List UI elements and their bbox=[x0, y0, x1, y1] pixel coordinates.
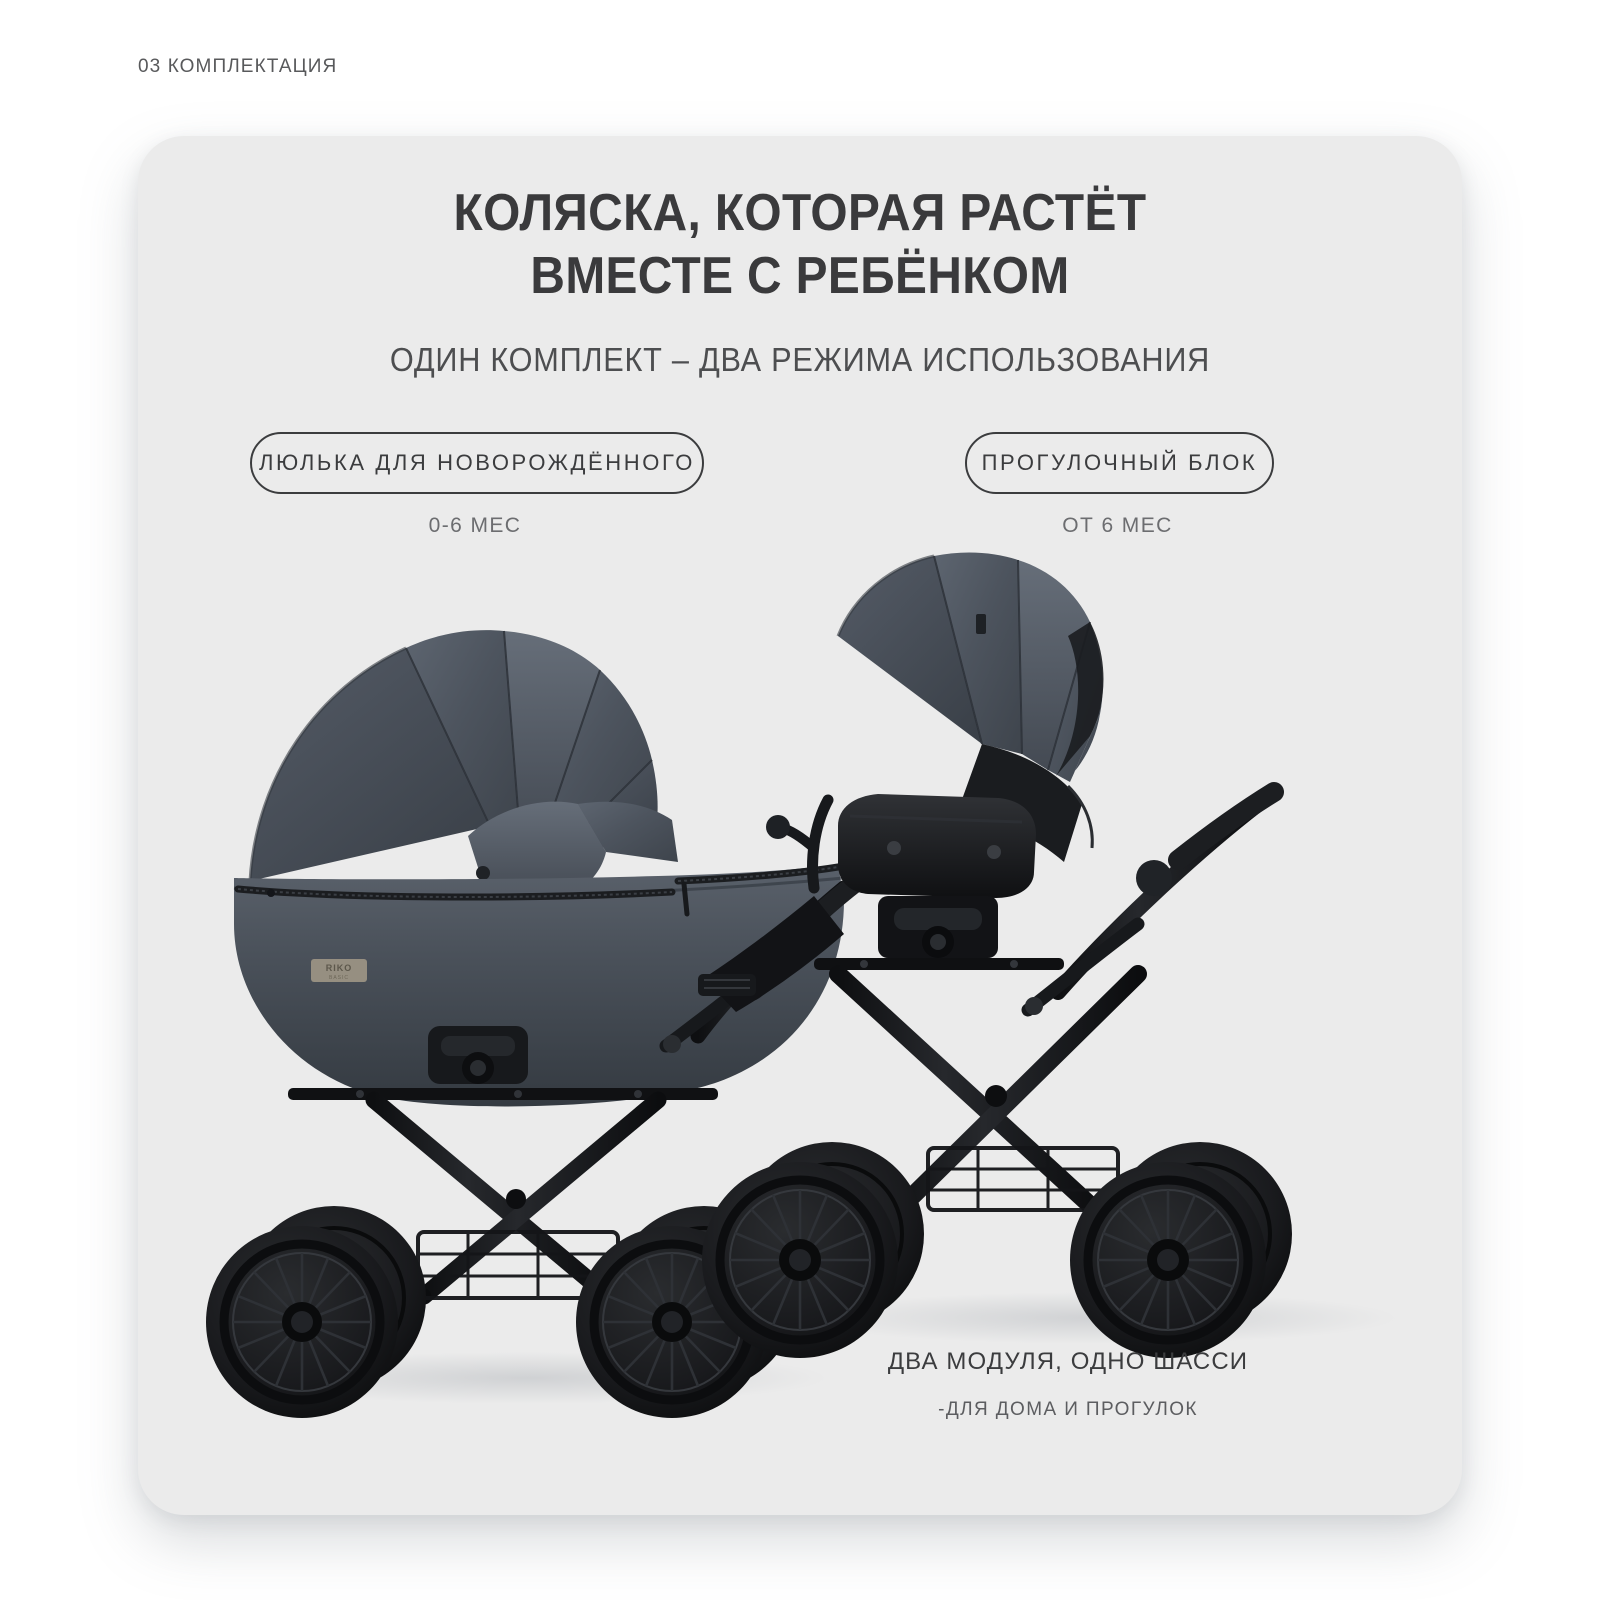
footrest bbox=[698, 896, 844, 1012]
mode-pill-stroller[interactable]: ПРОГУЛОЧНЫЙ БЛОК bbox=[965, 432, 1274, 494]
feature-card: КОЛЯСКА, КОТОРАЯ РАСТЁТ ВМЕСТЕ С РЕБЁНКО… bbox=[138, 136, 1462, 1515]
subtitle: ОДИН КОМПЛЕКТ – ДВА РЕЖИМА ИСПОЛЬЗОВАНИЯ bbox=[184, 341, 1415, 379]
seat-base bbox=[813, 794, 1036, 898]
seat-backrest bbox=[956, 744, 1092, 862]
handle-bar bbox=[663, 878, 862, 1053]
age-label-bassinet: 0-6 МЕС bbox=[250, 514, 700, 538]
age-label-stroller: ОТ 6 МЕС bbox=[965, 514, 1270, 538]
page-title: КОЛЯСКА, КОТОРАЯ РАСТЁТ ВМЕСТЕ С РЕБЁНКО… bbox=[191, 182, 1409, 309]
stroller-canopy bbox=[838, 553, 1104, 782]
headline-line-1: КОЛЯСКА, КОТОРАЯ РАСТЁТ bbox=[191, 182, 1409, 245]
storage-basket-stroller bbox=[928, 1148, 1118, 1210]
page-kicker: 03 КОМПЛЕКТАЦИЯ bbox=[138, 56, 337, 78]
bassinet-canopy bbox=[250, 630, 658, 881]
mode-pill-stroller-label: ПРОГУЛОЧНЫЙ БЛОК bbox=[982, 450, 1258, 476]
mode-pill-bassinet-label: ЛЮЛЬКА ДЛЯ НОВОРОЖДЁННОГО bbox=[259, 450, 695, 476]
mode-pill-bassinet[interactable]: ЛЮЛЬКА ДЛЯ НОВОРОЖДЁННОГО bbox=[250, 432, 704, 494]
storage-basket bbox=[418, 1232, 618, 1298]
chassis-adapter bbox=[428, 1026, 528, 1084]
bassinet-body: RIKO BASIC bbox=[234, 864, 844, 1107]
chassis-frame bbox=[374, 1100, 658, 1332]
seat-adapter bbox=[814, 896, 1064, 970]
handle-bar-stroller bbox=[766, 792, 1274, 1015]
wheel-rear-right-stroller bbox=[1108, 1142, 1292, 1326]
bassinet-pram-illustration: RIKO BASIC bbox=[206, 630, 862, 1418]
bassinet-apron bbox=[468, 802, 678, 898]
wheel-front-right-stroller bbox=[1070, 1162, 1266, 1358]
wheel-front-right bbox=[576, 1226, 768, 1418]
footnote-primary: ДВА МОДУЛЯ, ОДНО ШАССИ bbox=[828, 1348, 1308, 1376]
chassis-frame-stroller bbox=[832, 974, 1158, 1262]
wheel-rear-left bbox=[242, 1206, 426, 1390]
svg-text:BASIC: BASIC bbox=[329, 975, 349, 981]
wheel-rear-left-stroller bbox=[740, 1142, 924, 1326]
wheel-front-left-stroller bbox=[702, 1162, 898, 1358]
headline-line-2: ВМЕСТЕ С РЕБЁНКОМ bbox=[191, 245, 1409, 308]
wheel-rear-right bbox=[612, 1206, 796, 1390]
svg-text:RIKO: RIKO bbox=[326, 963, 353, 973]
wheel-front-left bbox=[206, 1226, 398, 1418]
stroller-pram-illustration bbox=[698, 553, 1398, 1358]
brand-label-patch: RIKO BASIC bbox=[311, 959, 367, 982]
footnote-secondary: -ДЛЯ ДОМА И ПРОГУЛОК bbox=[828, 1399, 1308, 1421]
